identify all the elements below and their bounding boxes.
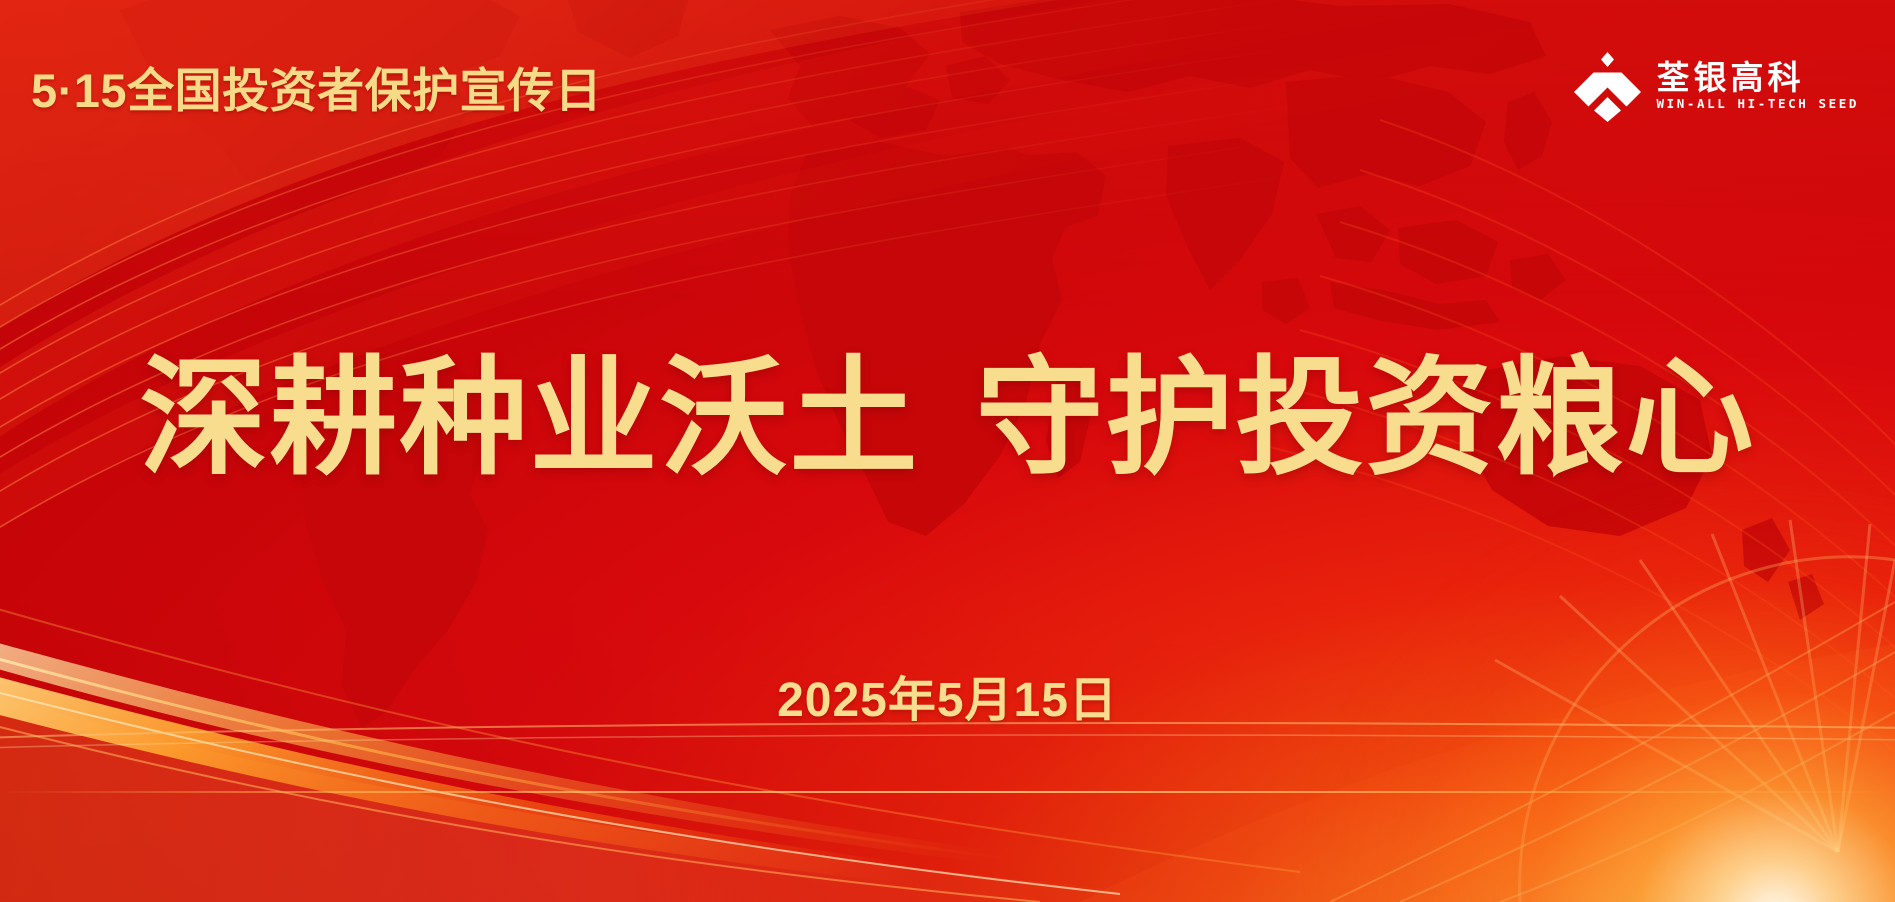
logo-company-name-cn: 荃银高科 bbox=[1656, 61, 1804, 94]
logo-company-name-en: WIN-ALL HI-TECH SEED bbox=[1656, 98, 1859, 111]
main-slogan-part2: 守护投资粮心 bbox=[976, 347, 1756, 490]
main-slogan-part1: 深耕种业沃土 bbox=[139, 347, 919, 490]
chevron-v-mark-icon bbox=[1574, 50, 1641, 122]
campaign-header-title: 5·15全国投资者保护宣传日 bbox=[31, 52, 602, 121]
main-slogan: 深耕种业沃土守护投资粮心 bbox=[0, 352, 1895, 486]
logo-wordmark: 荃银高科 WIN-ALL HI-TECH SEED bbox=[1656, 61, 1859, 111]
company-logo: 荃银高科 WIN-ALL HI-TECH SEED bbox=[1574, 50, 1859, 122]
event-date: 2025年5月15日 bbox=[0, 660, 1895, 730]
banner-poster: 5·15全国投资者保护宣传日 荃银高科 WIN-ALL HI-TECH SEED… bbox=[0, 0, 1895, 902]
